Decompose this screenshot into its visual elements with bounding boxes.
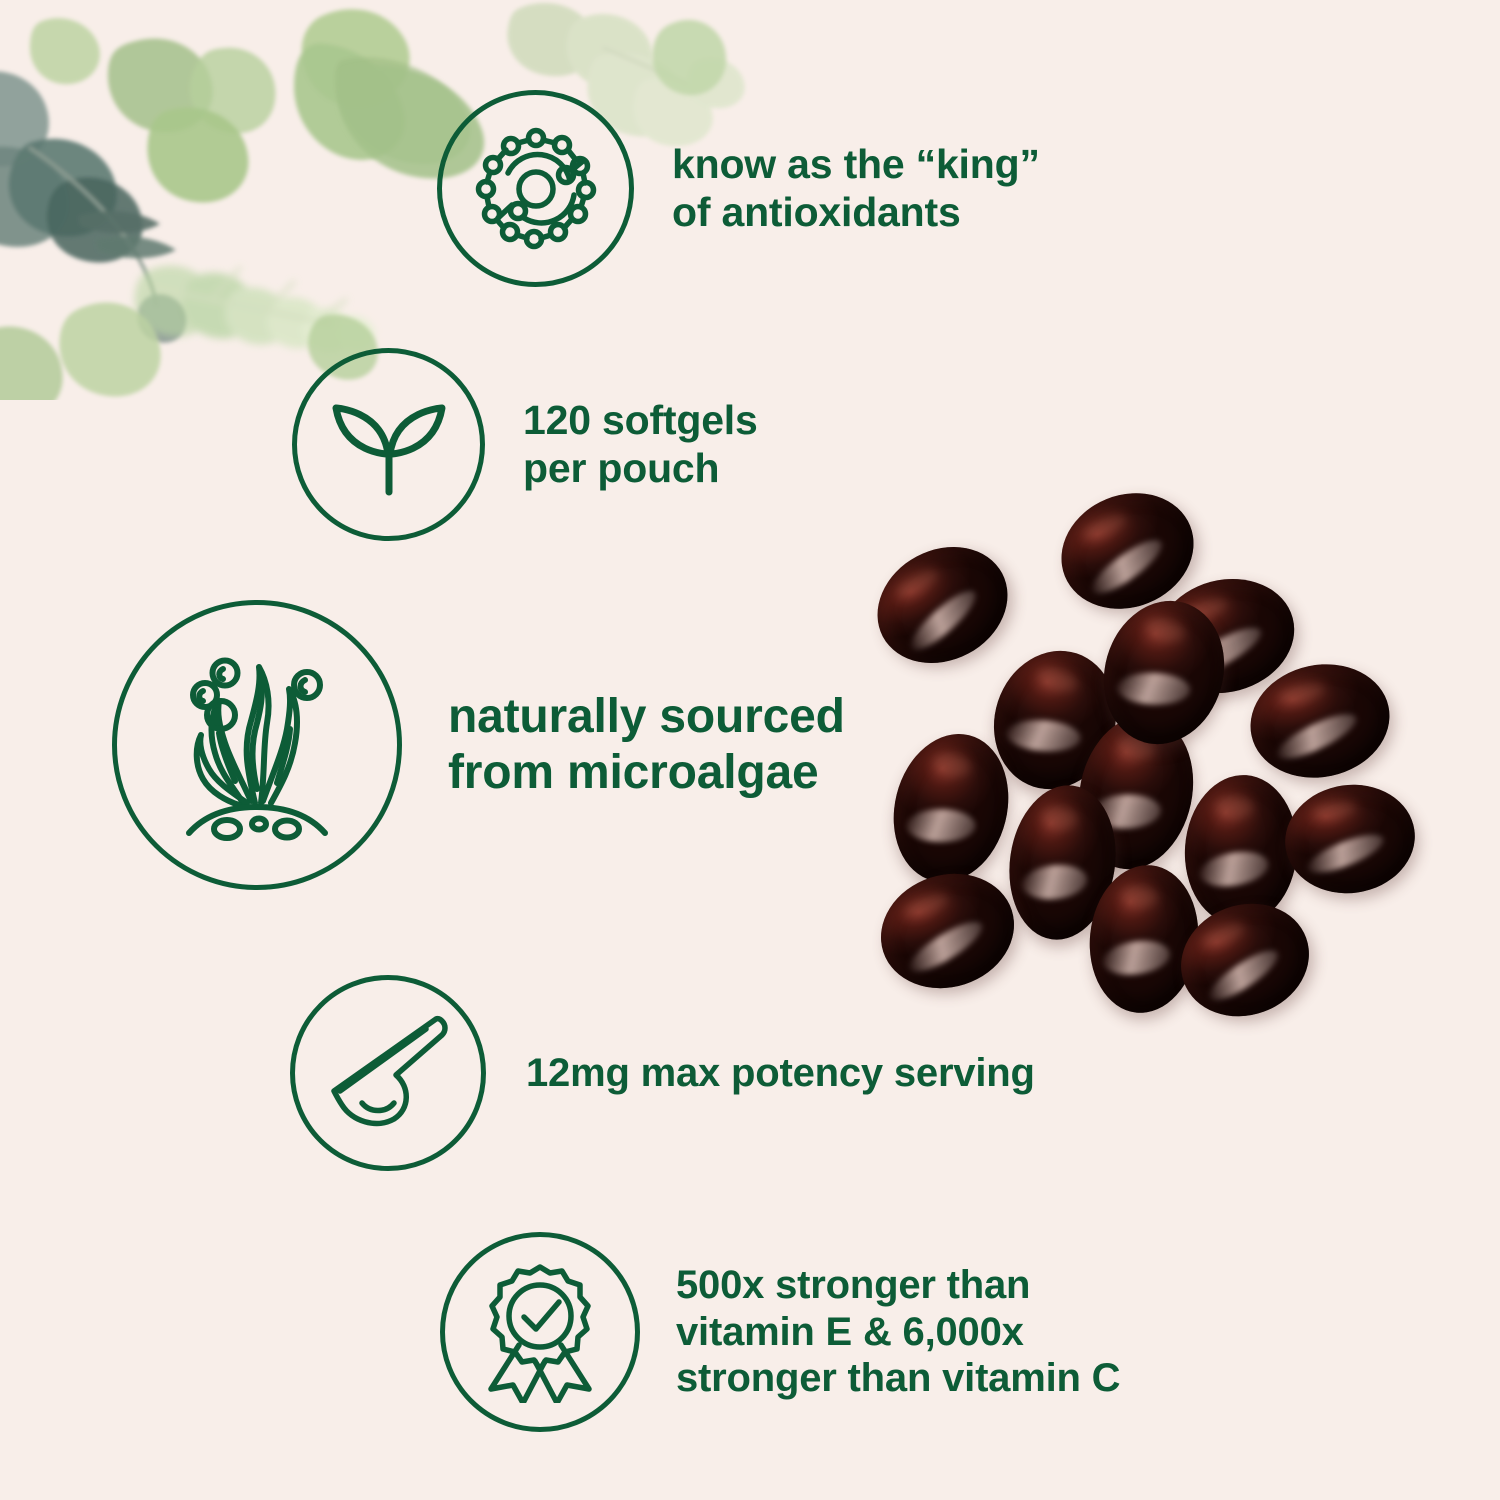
softgel-capsule bbox=[857, 525, 1028, 686]
capsule-sheen bbox=[1080, 510, 1129, 544]
antioxidant-molecule-icon bbox=[466, 119, 606, 259]
sage-branch-left bbox=[0, 71, 186, 343]
feature-row-strength: 500x stronger than vitamin E & 6,000x st… bbox=[440, 1232, 1120, 1432]
capsule-highlight bbox=[1101, 937, 1172, 979]
capsule-sheen bbox=[1214, 794, 1254, 821]
capsule-sheen bbox=[1119, 883, 1158, 910]
capsule-sheen bbox=[902, 889, 951, 920]
award-ribbon-check-icon bbox=[469, 1261, 611, 1403]
capsule-sheen bbox=[893, 565, 942, 602]
algae-icon-circle bbox=[112, 600, 402, 890]
softgel-capsule bbox=[866, 857, 1029, 1005]
capsule-sheen bbox=[1034, 662, 1080, 696]
capsule-sheen bbox=[930, 749, 973, 781]
capsule-highlight bbox=[906, 809, 975, 842]
infographic-canvas: know as the “king” of antioxidants 120 s… bbox=[0, 0, 1500, 1500]
spoon-icon-circle bbox=[290, 975, 486, 1171]
astaxanthin-softgel-capsules bbox=[855, 485, 1495, 1045]
award-icon-circle bbox=[440, 1232, 640, 1432]
measuring-spoon-icon bbox=[318, 1003, 458, 1143]
capsule-highlight bbox=[1204, 943, 1284, 1008]
capsule-highlight bbox=[1304, 828, 1388, 880]
feature-text-potency: 12mg max potency serving bbox=[526, 1050, 1035, 1097]
capsule-sheen bbox=[1200, 919, 1248, 951]
capsule-sheen bbox=[1311, 799, 1357, 822]
softgel-capsule bbox=[1278, 776, 1422, 901]
capsule-sheen bbox=[1040, 803, 1079, 833]
seaweed-algae-icon bbox=[155, 643, 360, 848]
sprout-leaves-icon bbox=[324, 380, 454, 510]
feature-row-antioxidant: know as the “king” of antioxidants bbox=[437, 90, 1040, 287]
leaf-small-topright bbox=[652, 20, 726, 95]
feature-text-strength: 500x stronger than vitamin E & 6,000x st… bbox=[676, 1262, 1120, 1402]
capsule-highlight bbox=[1272, 707, 1361, 767]
capsule-highlight bbox=[904, 584, 982, 658]
feature-text-softgels: 120 softgels per pouch bbox=[523, 397, 758, 493]
pale-sprig-mid bbox=[134, 266, 374, 353]
sprout-icon-circle bbox=[292, 348, 485, 541]
capsule-highlight bbox=[1116, 672, 1190, 706]
feature-row-softgels: 120 softgels per pouch bbox=[292, 348, 758, 541]
capsule-sheen bbox=[1142, 614, 1187, 647]
capsule-highlight bbox=[904, 914, 988, 979]
capsule-highlight bbox=[1086, 532, 1168, 601]
feature-row-microalgae: naturally sourced from microalgae bbox=[112, 600, 845, 890]
capsule-highlight bbox=[1020, 861, 1088, 902]
capsule-sheen bbox=[1276, 679, 1326, 706]
feature-text-antioxidant: know as the “king” of antioxidants bbox=[672, 141, 1040, 237]
feature-text-microalgae: naturally sourced from microalgae bbox=[448, 689, 845, 801]
leaf-group-upper bbox=[30, 0, 470, 202]
capsule-highlight bbox=[1005, 717, 1081, 753]
capsule-highlight bbox=[1197, 847, 1271, 892]
antioxidant-icon-circle bbox=[437, 90, 634, 287]
